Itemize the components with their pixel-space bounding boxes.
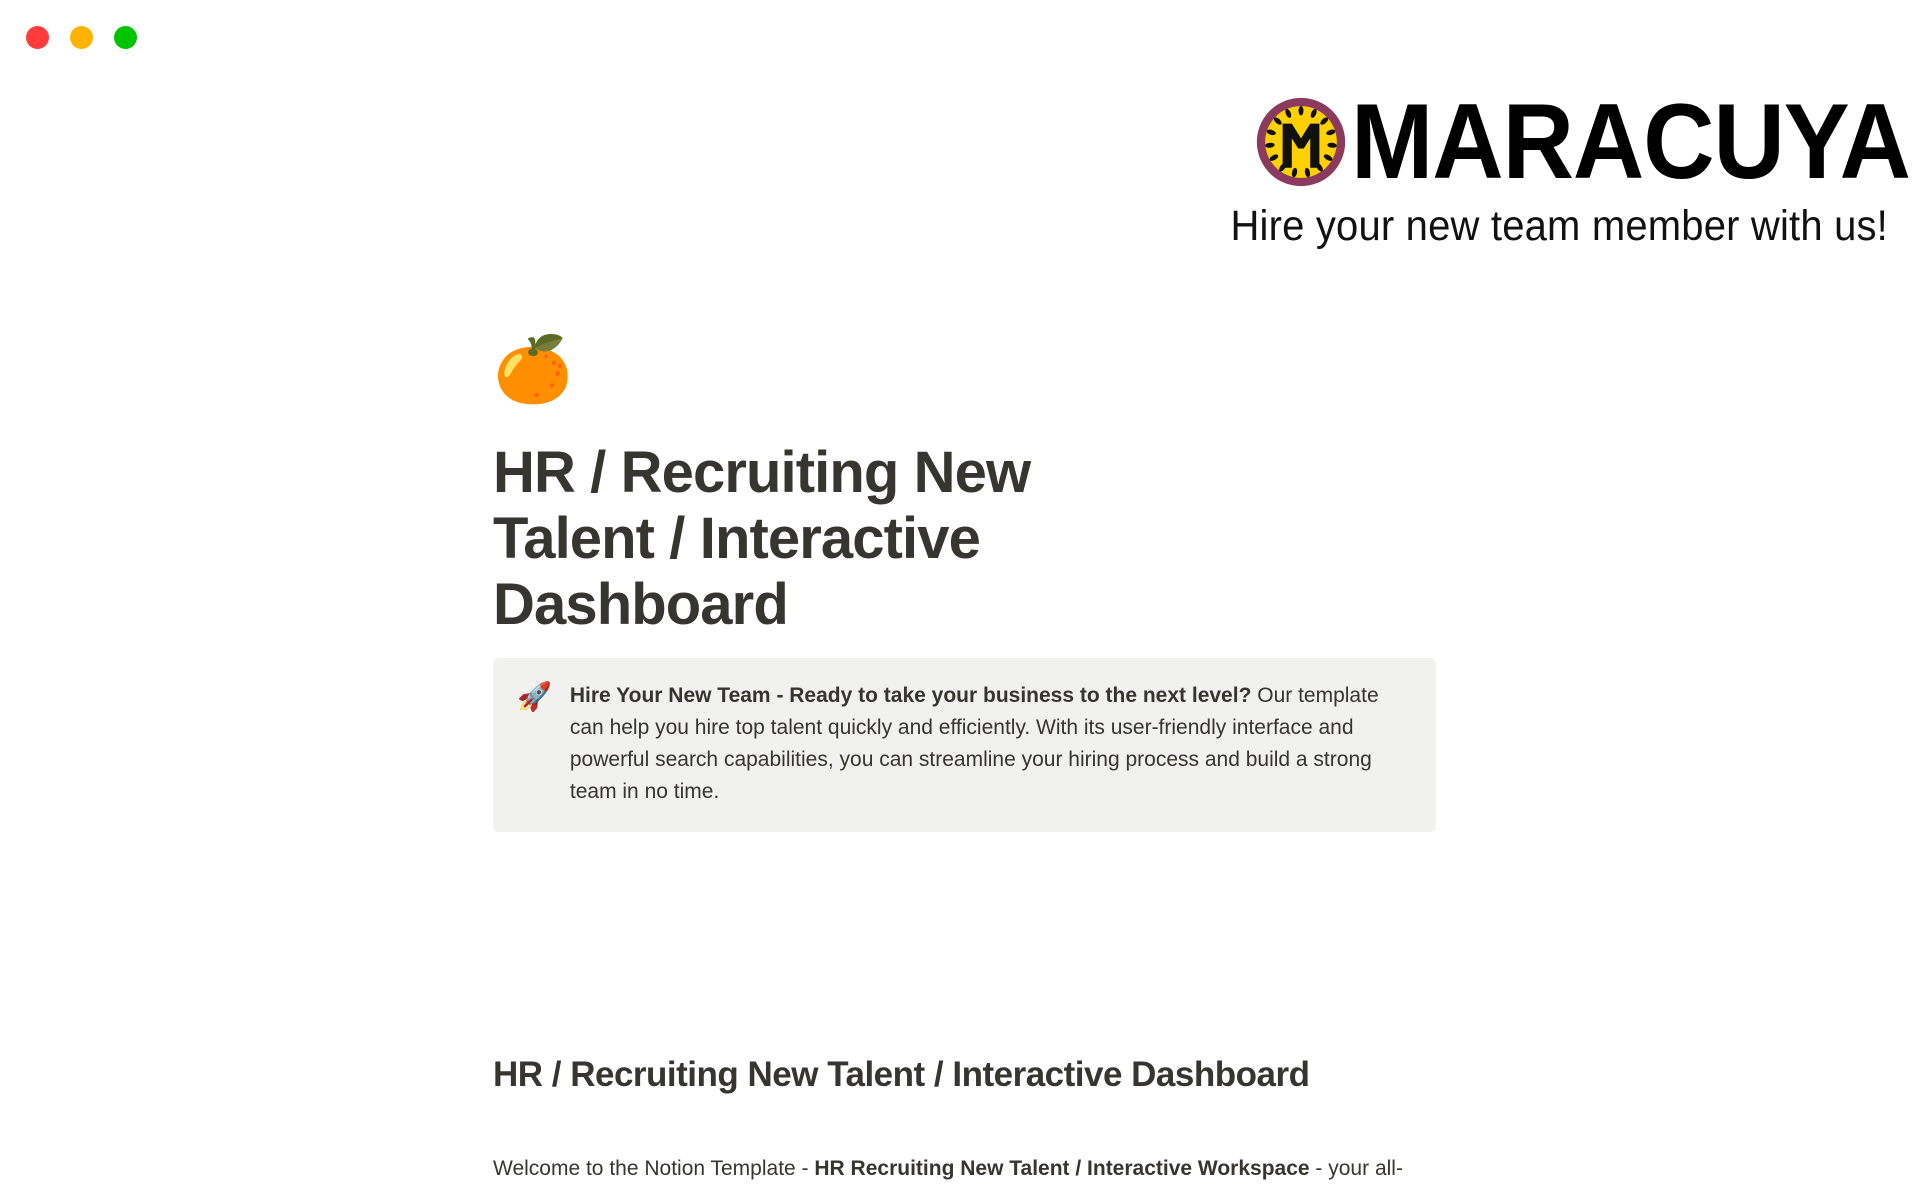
brand-tagline: Hire your new team member with us! — [1231, 200, 1888, 252]
section-heading[interactable]: HR / Recruiting New Talent / Interactive… — [493, 1052, 1440, 1098]
brand-wordmark: MARACUYA — [1351, 90, 1910, 193]
brand-header: MARACUYA Hire your new team member with … — [978, 96, 1888, 252]
paragraph-tail: - your all- — [1310, 1157, 1403, 1180]
tangerine-emoji: 🍊 — [493, 330, 1440, 416]
maracuya-passionfruit-badge-icon — [1255, 96, 1347, 188]
rocket-emoji: 🚀 — [517, 680, 552, 713]
callout-block[interactable]: 🚀 Hire Your New Team - Ready to take you… — [493, 658, 1436, 832]
window-titlebar — [0, 0, 1920, 74]
callout-bold-lead: Hire Your New Team - Ready to take your … — [570, 684, 1252, 707]
page-header: 🍊 HR / Recruiting New Talent / Interacti… — [493, 330, 1440, 638]
section-paragraph: Welcome to the Notion Template - HR Recr… — [493, 1153, 1440, 1185]
page-title[interactable]: HR / Recruiting New Talent / Interactive… — [493, 440, 1193, 638]
dashboard-section: HR / Recruiting New Talent / Interactive… — [493, 1052, 1440, 1185]
window-close-button[interactable] — [26, 26, 49, 49]
window-zoom-button[interactable] — [114, 26, 137, 49]
callout-text: Hire Your New Team - Ready to take your … — [570, 680, 1408, 808]
window-traffic-lights — [26, 26, 137, 49]
window-minimize-button[interactable] — [70, 26, 93, 49]
paragraph-bold-term: HR Recruiting New Talent / Interactive W… — [814, 1157, 1309, 1180]
brand-lockup[interactable]: MARACUYA — [1255, 96, 1888, 188]
paragraph-lead: Welcome to the Notion Template - — [493, 1157, 814, 1180]
